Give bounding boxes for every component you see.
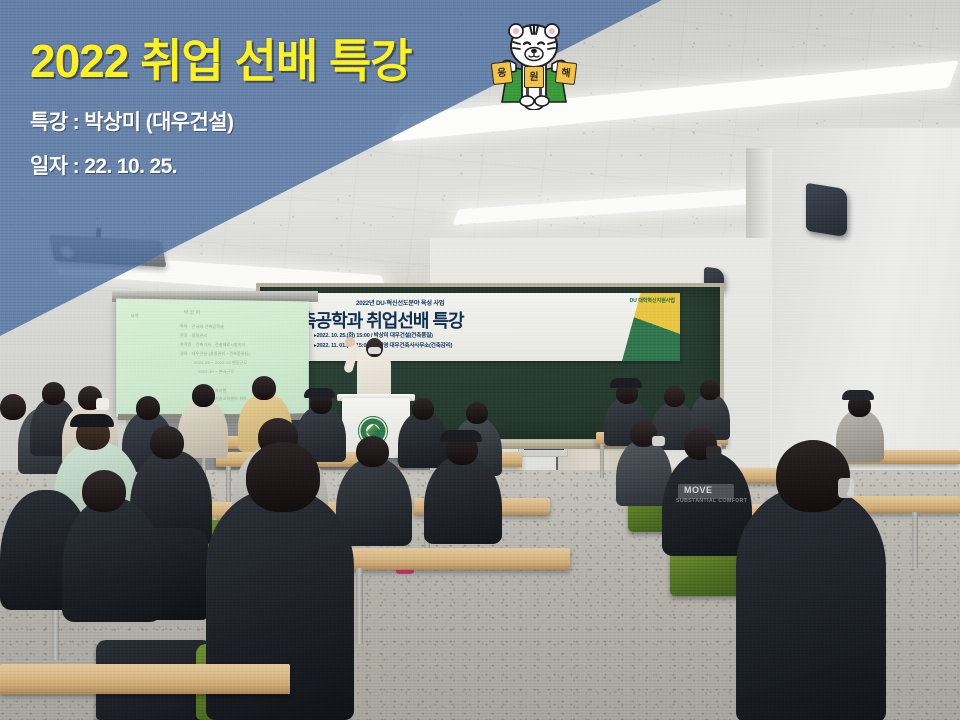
mascot-card-1: 응 (491, 61, 514, 85)
student-head (466, 402, 488, 424)
speaker-line: 특강 : 박상미 (대우건설) (30, 106, 670, 136)
face-mask (706, 446, 721, 459)
student-head (0, 394, 26, 420)
student-head (150, 426, 184, 459)
banner-logo: DU 대학혁신지원사업 (630, 297, 675, 304)
student-foreground-left-2 (62, 498, 162, 622)
student-head (700, 380, 720, 400)
face-mask (96, 398, 109, 410)
slide-line: 경력 : 대우건설 (품질관리 / 건축품질팀) (180, 351, 250, 357)
tiger-mascot: 응 원 해 (486, 14, 582, 110)
face-mask (838, 478, 854, 498)
desk-leg (912, 512, 918, 568)
date-line: 일자 : 22. 10. 25. (30, 150, 670, 180)
banner-headline: 축공학과 취업선배 특강 (300, 307, 464, 333)
student-move-jacket: MOVE SUBSTANTIAL COMFORT (662, 452, 752, 556)
student-silhouette (178, 400, 228, 458)
slide-heading-right: 박 상 미 (184, 310, 200, 316)
student-head (42, 382, 65, 405)
student-head (136, 396, 160, 420)
student-head (412, 398, 434, 420)
slide-heading-left: 요약 (131, 313, 139, 319)
baseball-cap (842, 390, 874, 400)
baseball-cap (610, 378, 642, 388)
baseball-cap (440, 430, 482, 442)
slide-line: 자격증 : 건축기사 , 건설재료시험기사 (180, 342, 246, 348)
student-head (356, 436, 389, 467)
student-head (252, 376, 276, 400)
poster-image: 2022년 DU-혁신선도분야 육성 사업 DU 대학혁신지원사업 축공학과 취… (0, 0, 960, 720)
mascot-card-3: 해 (555, 61, 578, 85)
presenter-hand (345, 337, 355, 347)
presenter-face-mask (368, 347, 381, 354)
student-silhouette (424, 456, 502, 544)
student-head (82, 470, 126, 512)
desk-foreground (0, 664, 290, 694)
baseball-cap (304, 388, 335, 398)
desk-leg (600, 444, 604, 478)
mascot-card-2: 원 (524, 66, 544, 88)
banner-schedule-line-2: ▸2022. 11. 01.(화) 15:00 / 박재영 대우건축사사무소(건… (314, 341, 452, 349)
slide-line: 학력 : 건국대 건축공학과 (180, 324, 224, 330)
student-head (664, 386, 685, 407)
baseball-cap (70, 414, 114, 427)
face-mask (652, 436, 665, 446)
slide-line: 2022.10 ~ 본사근무 (198, 369, 234, 375)
desk (340, 548, 570, 570)
slide-line: 전공 : 품질관리 (180, 333, 207, 339)
jacket-text-move: MOVE (684, 485, 713, 495)
jacket-text-sub: SUBSTANTIAL COMFORT (676, 498, 747, 504)
student-foreground-right (736, 486, 886, 720)
slide-line: 2021.03 ~ 2022.10 현장근무 (194, 360, 247, 366)
wall-speaker-icon (806, 183, 847, 237)
student-head (246, 442, 320, 512)
banner-subtitle: 2022년 DU-혁신선도분야 육성 사업 (356, 298, 444, 307)
desk-leg (356, 568, 363, 644)
student-head (776, 440, 850, 512)
student-head (192, 384, 215, 407)
